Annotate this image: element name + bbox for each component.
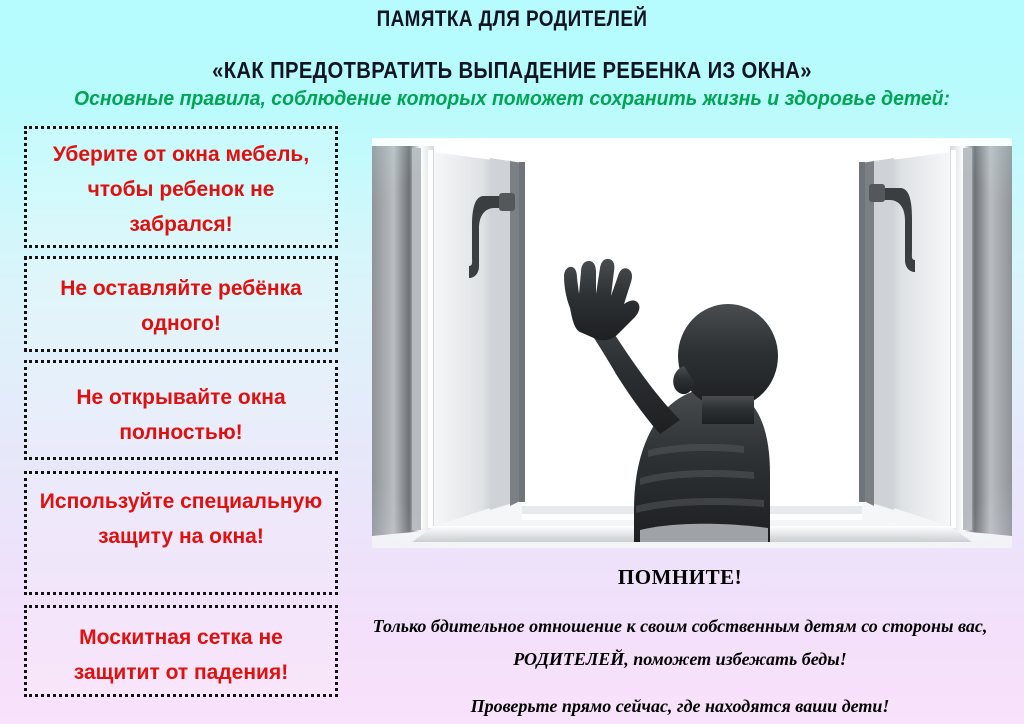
- intro-text: Основные правила, соблюдение которых пом…: [15, 88, 1008, 111]
- parent-safety-poster: ПАМЯТКА ДЛЯ РОДИТЕЛЕЙ «КАК ПРЕДОТВРАТИТЬ…: [0, 0, 1024, 724]
- photo-inner: [372, 138, 1012, 548]
- rule-item: Используйте специальную защиту на окна!: [24, 471, 338, 595]
- rule-item: Уберите от окна мебель, чтобы ребенок не…: [24, 126, 338, 248]
- rule-item: Не оставляйте ребёнка одного!: [24, 256, 338, 352]
- page-title: ПАМЯТКА ДЛЯ РОДИТЕЛЕЙ: [72, 6, 953, 32]
- rule-item: Москитная сетка не защитит от падения!: [24, 605, 338, 697]
- rules-list: Уберите от окна мебель, чтобы ребенок не…: [24, 126, 338, 705]
- child-at-open-window-photo: [372, 138, 1012, 548]
- rule-item: Не открывайте окна полностью!: [24, 360, 338, 460]
- remember-body: Только бдительное отношение к своим собс…: [348, 610, 1012, 723]
- page-subtitle-quoted: «КАК ПРЕДОТВРАТИТЬ ВЫПАДЕНИЕ РЕБЕНКА ИЗ …: [61, 57, 962, 84]
- remember-paragraph: Только бдительное отношение к своим собс…: [373, 616, 988, 669]
- window-illustration-icon: [372, 138, 1012, 548]
- remember-heading: ПОМНИТЕ!: [350, 565, 1010, 590]
- remember-call-to-action: Проверьте прямо сейчас, где находятся ва…: [348, 690, 1012, 723]
